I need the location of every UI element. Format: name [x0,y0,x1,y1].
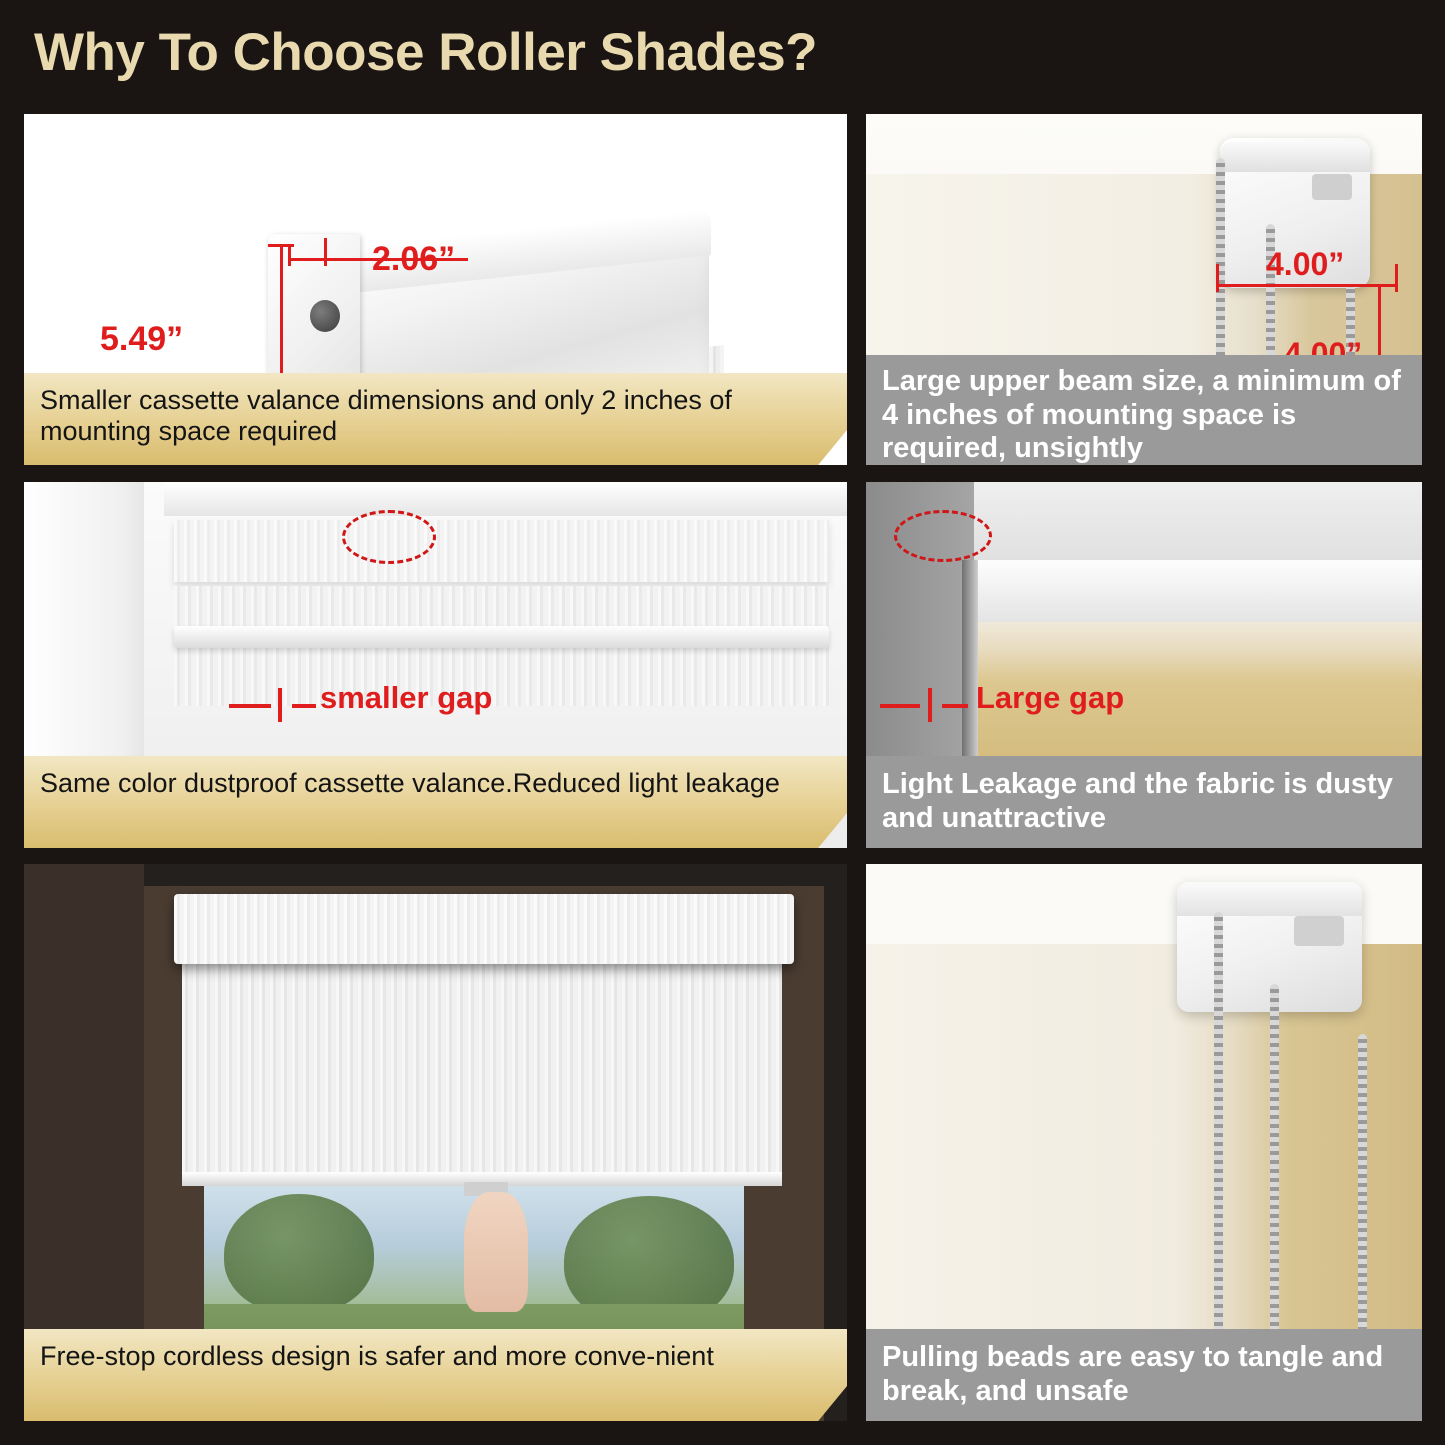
gap-arrow-right [292,704,316,708]
panel-2-caption: Large upper beam size, a minimum of 4 in… [866,355,1422,465]
panel2-width-tick-left [1216,264,1219,292]
gap-arrow-right [942,704,968,708]
panel-1-height-dimension-label: 5.49” [100,320,183,359]
head-beam-bracket [1220,142,1370,172]
panel-6: Pulling beads are easy to tangle and bre… [866,864,1422,1421]
page-title: Why To Choose Roller Shades? [34,22,817,83]
panel-3: smaller gap Same color dustproof cassett… [24,482,847,848]
panel-2: 4.00” 4.00” Large upper beam size, a min… [866,114,1422,465]
bead-chain-middle [1270,984,1279,1332]
width-dim-tick-left [288,244,291,266]
infographic-page: Why To Choose Roller Shades? 2.06” 5.49”… [0,0,1445,1445]
panel-5: Free-stop cordless design is safer and m… [24,864,847,1421]
height-dim-tick-top [268,244,294,247]
ceiling-molding [164,482,847,516]
cassette-valance [174,894,794,964]
panel2-width-tick-right [1395,264,1398,292]
bead-chain-left [1214,912,1223,1332]
panel-1-caption: Smaller cassette valance dimensions and … [24,373,847,465]
hand [464,1192,528,1312]
head-beam-bracket [1177,882,1362,916]
panel-4: Large gap Light Leakage and the fabric i… [866,482,1422,848]
panel-4-caption: Light Leakage and the fabric is dusty an… [866,756,1422,848]
width-dim-tick-right [324,238,327,266]
panel-1: 2.06” 5.49” Smaller cassette valance dim… [24,114,847,465]
panel-6-caption: Pulling beads are easy to tangle and bre… [866,1329,1422,1421]
end-cap-hole-upper [310,300,340,332]
light-gap [962,560,978,772]
roller-head-beam [974,560,1422,622]
gap-tick [278,688,282,722]
panel-3-caption: Same color dustproof cassette valance.Re… [24,756,847,848]
gap-highlight-ellipse [894,510,992,562]
panel2-width-dim-line [1216,284,1398,287]
panel-5-caption: Free-stop cordless design is safer and m… [24,1329,847,1421]
bead-chain-right [1358,1034,1367,1332]
panel-3-gap-label: smaller gap [320,680,492,716]
head-beam-notch [1294,916,1344,946]
cassette-valance [174,520,829,582]
gap-tick [928,688,932,722]
panel-2-width-dimension-label: 4.00” [1266,246,1344,283]
head-beam-notch [1312,174,1352,200]
panel-4-gap-label: Large gap [976,680,1124,716]
shade-fabric [182,964,782,1179]
panel-1-width-dimension-label: 2.06” [372,240,455,279]
shade-bottom-rail [174,626,829,648]
gap-highlight-ellipse [342,510,436,564]
gap-arrow-left [229,704,271,708]
gap-arrow-left [880,704,920,708]
outdoor-tree-left [224,1194,374,1314]
